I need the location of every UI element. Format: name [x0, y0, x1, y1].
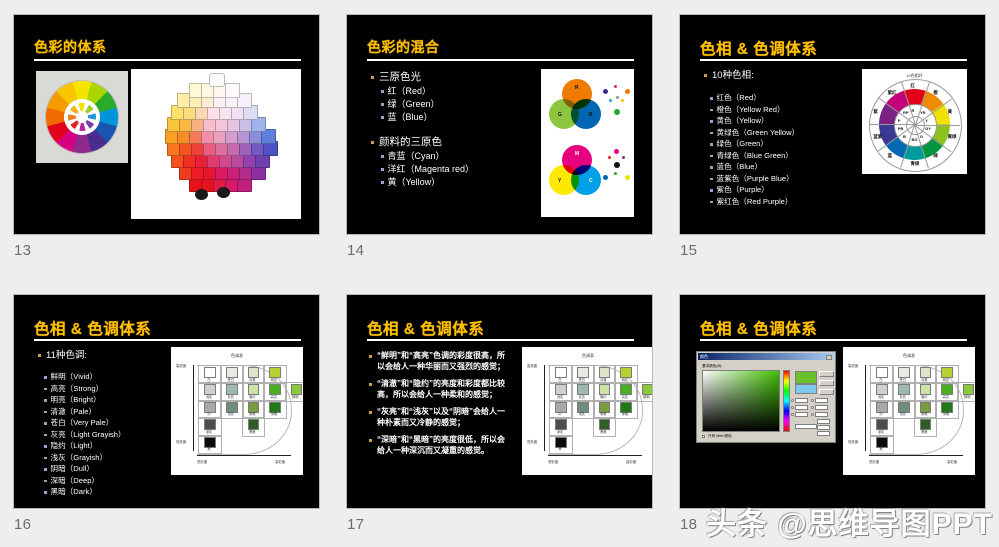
dialog-number-field[interactable]	[815, 398, 828, 403]
hue-wheel-outer-label: 绿	[933, 153, 937, 159]
bullet-text: 颜料的三原色	[379, 136, 442, 149]
bullet-square-icon	[710, 143, 713, 146]
tone-chart-cell-label: 明亮	[614, 377, 636, 382]
slide-17-title: 色相 & 色调体系	[367, 317, 484, 339]
color-solid-cubes	[131, 69, 301, 219]
slide-14-title: 色彩的混合	[367, 37, 440, 57]
tone-chart-x-axis	[197, 455, 291, 456]
dot	[614, 162, 620, 168]
list-item: 阴暗（Dull）	[44, 463, 178, 475]
tone-chart-x-right-label: 高彩度	[626, 459, 636, 464]
list-item: 红（Red）	[381, 85, 551, 98]
bullet-square-icon	[710, 155, 713, 158]
dialog-number-field[interactable]	[817, 431, 830, 436]
paragraph-text: “深暗”和“黑暗”的亮度很低，所以会给人一种深沉而又凝重的感觉。	[377, 435, 510, 456]
venn-label-c: C	[589, 178, 593, 184]
list-item-label: 清澈（Pale）	[51, 406, 97, 418]
bullet-square-icon	[44, 399, 47, 402]
bullet-square-icon	[369, 383, 372, 386]
tone-chart-cell-label: 高亮	[614, 394, 636, 399]
title-rule	[34, 339, 301, 341]
list-item: 绿（Green）	[381, 98, 551, 111]
bullet-square-icon	[710, 201, 713, 204]
hue-wheel: 10色相环 红橙黄黄绿绿青绿蓝蓝紫紫紫红RYRYGYGBGBPBPRP	[862, 69, 967, 174]
list-item-label: 红（Red）	[388, 85, 432, 98]
tone-chart-y-axis	[865, 365, 866, 451]
title-rule	[700, 59, 967, 61]
tone-chart-cell-label: 隐约	[914, 394, 936, 399]
bullet-square-icon	[369, 355, 372, 358]
dot	[608, 156, 611, 159]
venn-label-m: M	[575, 151, 579, 157]
title-rule	[367, 339, 634, 341]
hue-wheel-outer-label: 蓝	[888, 153, 892, 159]
web-colors-checkbox[interactable]	[702, 435, 705, 438]
bullet-square-icon	[38, 354, 41, 357]
slide-cell-13: 色彩的体系 13	[0, 0, 333, 280]
tone-chart-cell-label: 深暗	[263, 411, 285, 416]
tone-chart-cell-label: 鲜明	[636, 394, 654, 399]
list-item: 明亮（Bright）	[44, 394, 178, 406]
tone-chart-cell-label: 黑暗	[914, 429, 936, 434]
tone-chart-cell-label: 高亮	[935, 394, 957, 399]
rgb-dot-map	[603, 83, 631, 123]
hue-wheel-code-label: BG	[912, 137, 918, 142]
add-button[interactable]	[819, 389, 834, 395]
list-spacer	[704, 83, 864, 92]
tone-chart-caption: 色调表	[171, 353, 303, 359]
bullet-square-icon	[44, 491, 47, 494]
venn-label-y: Y	[558, 178, 561, 184]
list-item-label: 隐约（Light）	[51, 440, 98, 452]
slide-15-title: 色相 & 色调体系	[700, 37, 817, 59]
bullet-group-heading: 10种色相:	[704, 69, 864, 82]
slide-cell-15: 色相 & 色调体系 10种色相: 红色（Red）橙色（Yellow Red）黄色…	[666, 0, 999, 280]
list-item: 黄绿色（Green Yellow）	[710, 127, 864, 139]
dot	[625, 89, 630, 94]
slide-18[interactable]: 色相 & 色调体系 颜色 基本颜色(B):	[679, 294, 986, 509]
dialog-number-field[interactable]	[817, 425, 830, 430]
title-rule	[34, 59, 301, 61]
tone-chart-cell-label: 隐约	[242, 394, 264, 399]
list-item: 苍白（Very Pale）	[44, 417, 178, 429]
hue-wheel-outer-label: 红	[911, 83, 915, 89]
tone-chart-cell-label: 高亮	[263, 394, 285, 399]
list-item: 鲜明（Vivid）	[44, 371, 178, 383]
list-item: 黑暗（Dark）	[44, 486, 178, 498]
title-rule	[367, 59, 634, 61]
bullet-square-icon	[381, 168, 384, 171]
hue-wheel-code-label: Y	[925, 118, 928, 123]
tone-chart-cell-label: 清澈	[914, 377, 936, 382]
list-item-label: 阴暗（Dull）	[51, 463, 94, 475]
tone-chart-cell-label: 苍白	[220, 377, 242, 382]
tone-list: 鲜明（Vivid）高亮（Strong）明亮（Bright）清澈（Pale）苍白（…	[38, 371, 178, 498]
dot	[625, 175, 630, 180]
tone-chart-gray-label: 中	[870, 411, 892, 416]
list-item: 绿色（Green）	[710, 138, 864, 150]
bullet-square-icon	[44, 468, 47, 471]
hue-wheel-spoke	[870, 124, 915, 125]
list-item: 浅灰（Grayish）	[44, 452, 178, 464]
bullet-square-icon	[44, 376, 47, 379]
list-item-label: 浅灰（Grayish）	[51, 452, 108, 464]
tone-chart-cell-label: 清澈	[242, 377, 264, 382]
close-icon[interactable]	[826, 355, 832, 360]
dot	[603, 89, 608, 94]
tone-chart-gray-label: 浅灰	[870, 394, 892, 399]
rgb-venn-diagram: R G B	[549, 79, 601, 131]
list-item: 紫色（Purple）	[710, 184, 864, 196]
dialog-titlebar: 颜色	[698, 353, 834, 360]
tone-chart-cell-label: 阴暗	[593, 411, 615, 416]
list-item-label: 灰亮（Light Grayish）	[51, 429, 126, 441]
paragraph-item: “深暗”和“黑暗”的亮度很低，所以会给人一种深沉而又凝重的感觉。	[369, 435, 519, 456]
tone-chart-caption: 色调表	[843, 353, 975, 359]
hue-wheel-spoke	[915, 125, 960, 126]
venn-circle-c	[571, 165, 601, 195]
bullet-square-icon	[44, 422, 47, 425]
slide-number-17: 17	[347, 516, 364, 533]
tone-chart-cell-label: 鲜明	[957, 394, 976, 399]
bullet-square-icon	[369, 439, 372, 442]
bullet-square-icon	[381, 90, 384, 93]
dialog-label: 基本颜色(B):	[702, 364, 722, 369]
dot	[603, 175, 608, 180]
hue-wheel-code-label: B	[903, 134, 906, 139]
list-item: 紫红色（Red Purple）	[710, 196, 864, 208]
tone-chart: 色调表高亮度低亮度低彩度高彩度白浅灰中深灰黑苍白清澈明亮灰亮隐约高亮鲜明浅灰阴暗…	[843, 347, 975, 475]
slide-13-title: 色彩的体系	[34, 37, 107, 57]
tone-chart-cell-label: 灰亮	[220, 394, 242, 399]
hue-wheel-image: 10色相环 红橙黄黄绿绿青绿蓝蓝紫紫紫红RYRYGYGBGBPBPRP	[862, 69, 967, 174]
list-item-label: 洋红（Magenta red）	[388, 163, 475, 176]
dialog-radio[interactable]	[791, 406, 794, 409]
color-preview-new	[795, 371, 817, 384]
color-mixing-image: R G B M	[541, 69, 634, 217]
bullet-square-icon	[381, 181, 384, 184]
tone-chart-x-axis	[869, 455, 963, 456]
ok-button[interactable]	[819, 371, 834, 377]
slide-number-13: 13	[14, 242, 31, 259]
tone-chart-gray-label: 黑	[198, 446, 220, 451]
hue-wheel-outer-label: 黄绿	[948, 134, 957, 140]
venn-label-b: B	[589, 112, 593, 118]
tone-chart-cell-label: 苍白	[892, 377, 914, 382]
bullet-square-icon	[44, 457, 47, 460]
tone-chart-y-top-label: 高亮度	[176, 363, 186, 368]
tone-chart-cell-label: 黑暗	[593, 429, 615, 434]
paragraph-text: “鲜明”和“高亮”色调的彩度很高，所以会给人一种华丽而又强烈的感觉；	[377, 351, 510, 372]
dot	[614, 109, 620, 115]
dialog-number-field[interactable]	[817, 419, 830, 424]
hue-wheel-outer-label: 黄	[948, 109, 952, 115]
tone-chart-x-axis	[548, 455, 642, 456]
color-dialog: 颜色 基本颜色(B): 只有 Web 颜色	[696, 351, 836, 443]
dot	[614, 149, 619, 154]
tone-chart-cell-label: 灰亮	[892, 394, 914, 399]
tone-chart-cell-label: 深暗	[935, 411, 957, 416]
dialog-radio[interactable]	[811, 413, 814, 416]
tone-chart-x-right-label: 高彩度	[275, 459, 285, 464]
list-item-label: 紫色（Purple）	[717, 184, 769, 196]
tone-chart-cell-label: 浅灰	[892, 411, 914, 416]
tone-chart-gray-label: 中	[198, 411, 220, 416]
tone-chart-gray-label: 白	[549, 377, 571, 382]
tone-chart-y-bottom-label: 低亮度	[527, 439, 537, 444]
bullet-square-icon	[710, 178, 713, 181]
color-solid-base-blob	[217, 187, 230, 198]
bullet-square-icon	[44, 480, 47, 483]
hue-wheel-code-label: R	[912, 108, 915, 113]
slide-17[interactable]: 色相 & 色调体系 “鲜明”和“高亮”色调的彩度很高，所以会给人一种华丽而又强烈…	[346, 294, 653, 509]
list-item-label: 黄色（Yellow）	[717, 115, 769, 127]
list-spacer	[38, 363, 178, 371]
dialog-radio[interactable]	[791, 399, 794, 402]
list-item: 青绿色（Blue Green）	[710, 150, 864, 162]
tone-chart-x-left-label: 低彩度	[548, 459, 558, 464]
paragraph-text: “清澈”和“隐约”的亮度和彩度都比较高，所以会给人一种柔和的感觉；	[377, 379, 510, 400]
hue-wheel-outer-label: 蓝紫	[873, 134, 882, 140]
dot	[621, 99, 624, 102]
tone-chart-gray-label: 深灰	[549, 429, 571, 434]
bullet-square-icon	[371, 141, 374, 144]
venn-label-g: G	[558, 112, 562, 118]
tone-chart-cell-label: 黑暗	[242, 429, 264, 434]
tone-chart-y-top-label: 高亮度	[848, 363, 858, 368]
tone-chart-cell-label: 深暗	[614, 411, 636, 416]
bullet-group-heading: 颜料的三原色	[371, 136, 551, 149]
dialog-number-field[interactable]	[815, 405, 828, 410]
tone-chart-y-bottom-label: 低亮度	[848, 439, 858, 444]
bullet-group-heading: 三原色光	[371, 71, 551, 84]
list-item: 红色（Red）	[710, 92, 864, 104]
hue-slider[interactable]	[783, 370, 790, 432]
tone-chart-x-right-label: 高彩度	[947, 459, 957, 464]
bullet-square-icon	[381, 103, 384, 106]
cmy-dot-map	[603, 149, 631, 189]
slide-grid: 色彩的体系 13 色彩的混合	[0, 0, 999, 547]
tone-chart-y-top-label: 高亮度	[527, 363, 537, 368]
list-item-label: 青蓝（Cyan）	[388, 150, 445, 163]
slide-15-bullets: 10种色相: 红色（Red）橙色（Yellow Red）黄色（Yellow）黄绿…	[704, 69, 864, 207]
bullet-square-icon	[381, 116, 384, 119]
slide-cell-18: 色相 & 色调体系 颜色 基本颜色(B):	[666, 280, 999, 547]
tone-chart-gray-label: 黑	[870, 446, 892, 451]
slide-cell-16: 色相 & 色调体系 11种色调: 鲜明（Vivid）高亮（Strong）明亮（B…	[0, 280, 333, 547]
cmy-venn-diagram: M Y C	[549, 145, 601, 197]
color-wheel-image	[36, 71, 128, 163]
list-item: 洋红（Magenta red）	[381, 163, 551, 176]
color-solid-top-cylinder	[209, 73, 225, 87]
list-item-label: 黄（Yellow）	[388, 176, 441, 189]
list-spacer	[371, 124, 551, 136]
tone-chart-y-axis	[193, 365, 194, 451]
cancel-button[interactable]	[819, 380, 834, 386]
list-item-label: 黑暗（Dark）	[51, 486, 97, 498]
venn-circle-b	[571, 99, 601, 129]
list-item: 灰亮（Light Grayish）	[44, 429, 178, 441]
tone-chart-x-left-label: 低彩度	[869, 459, 879, 464]
bullet-square-icon	[44, 411, 47, 414]
bullet-square-icon	[369, 411, 372, 414]
slide-16-bullets: 11种色调: 鲜明（Vivid）高亮（Strong）明亮（Bright）清澈（P…	[38, 349, 178, 498]
bullet-square-icon	[710, 132, 713, 135]
tone-chart-cell-label: 鲜明	[285, 394, 304, 399]
list-item-label: 深暗（Deep）	[51, 475, 100, 487]
list-item: 蓝（Blue）	[381, 111, 551, 124]
tone-chart: 色调表高亮度低亮度低彩度高彩度白浅灰中深灰黑苍白清澈明亮灰亮隐约高亮鲜明浅灰阴暗…	[171, 347, 303, 475]
slide-17-paragraphs: “鲜明”和“高亮”色调的彩度很高，所以会给人一种华丽而又强烈的感觉； “清澈”和…	[369, 351, 519, 463]
list-item-label: 蓝紫色（Purple Blue）	[717, 173, 794, 185]
slide-15[interactable]: 色相 & 色调体系 10种色相: 红色（Red）橙色（Yellow Red）黄色…	[679, 14, 986, 235]
tone-chart-cell-label: 阴暗	[242, 411, 264, 416]
bullet-square-icon	[381, 155, 384, 158]
paragraph-text: “灰亮”和“浅灰”以及“阴暗”会给人一种朴素而又冷静的感觉；	[377, 407, 510, 428]
list-item-label: 苍白（Very Pale）	[51, 417, 114, 429]
tone-chart-cell-label: 浅灰	[220, 411, 242, 416]
hue-wheel-outer-label: 紫红	[888, 90, 897, 96]
paragraph-item: “鲜明”和“高亮”色调的彩度很高，所以会给人一种华丽而又强烈的感觉；	[369, 351, 519, 372]
list-item-label: 紫红色（Red Purple）	[717, 196, 793, 208]
bullet-text: 11种色调:	[46, 349, 87, 362]
hue-list: 红色（Red）橙色（Yellow Red）黄色（Yellow）黄绿色（Green…	[704, 92, 864, 207]
paragraph-item: “灰亮”和“浅灰”以及“阴暗”会给人一种朴素而又冷静的感觉；	[369, 407, 519, 428]
slide-13[interactable]: 色彩的体系	[13, 14, 320, 235]
dialog-number-field[interactable]	[795, 405, 808, 410]
tone-chart-gray-label: 白	[870, 377, 892, 382]
tone-chart-gray-label: 中	[549, 411, 571, 416]
color-solid-image	[131, 69, 301, 219]
color-solid-base-blob	[195, 189, 208, 200]
list-item-label: 红色（Red）	[717, 92, 761, 104]
bullet-text: 三原色光	[379, 71, 421, 84]
slide-cell-14: 色彩的混合 三原色光 红（Red） 绿（Green） 蓝（Blue） 颜料的三原…	[333, 0, 666, 280]
slide-16[interactable]: 色相 & 色调体系 11种色调: 鲜明（Vivid）高亮（Strong）明亮（B…	[13, 294, 320, 509]
bullet-square-icon	[44, 445, 47, 448]
tone-chart-gray-label: 深灰	[198, 429, 220, 434]
list-item: 蓝色（Blue）	[710, 161, 864, 173]
dialog-radio[interactable]	[811, 399, 814, 402]
tone-chart-cell-label: 明亮	[263, 377, 285, 382]
dot	[616, 96, 619, 99]
list-item: 隐约（Light）	[44, 440, 178, 452]
color-preview-current	[795, 384, 817, 394]
tone-chart-cell-label: 浅灰	[571, 411, 593, 416]
venn-label-r: R	[575, 85, 579, 91]
tone-chart-cell-label: 阴暗	[914, 411, 936, 416]
hue-wheel-outer-label: 青绿	[911, 161, 920, 167]
hue-wheel-code-label: P	[898, 118, 901, 123]
dot	[622, 156, 625, 159]
hue-wheel-outer-label: 紫	[873, 109, 877, 115]
list-item-label: 蓝（Blue）	[388, 111, 433, 124]
dialog-title: 颜色	[700, 354, 708, 359]
list-item-label: 蓝色（Blue）	[717, 161, 763, 173]
slide-18-title: 色相 & 色调体系	[700, 317, 817, 339]
bullet-square-icon	[710, 97, 713, 100]
dot	[609, 99, 612, 102]
list-item-label: 高亮（Strong）	[51, 383, 104, 395]
dialog-radio[interactable]	[791, 413, 794, 416]
title-rule	[700, 339, 967, 341]
tone-chart-cell-label: 清澈	[593, 377, 615, 382]
bullet-square-icon	[44, 434, 47, 437]
tone-chart-gray-label: 浅灰	[549, 394, 571, 399]
list-item-label: 橙色（Yellow Red）	[717, 104, 785, 116]
list-item-label: 鲜明（Vivid）	[51, 371, 98, 383]
tone-chart-x-left-label: 低彩度	[197, 459, 207, 464]
tone-chart-y-axis	[544, 365, 545, 451]
list-item-label: 绿（Green）	[388, 98, 440, 111]
list-item-label: 绿色（Green）	[717, 138, 768, 150]
paragraph-item: “清澈”和“隐约”的亮度和彩度都比较高，所以会给人一种柔和的感觉；	[369, 379, 519, 400]
slide-16-title: 色相 & 色调体系	[34, 317, 151, 339]
slide-cell-17: 色相 & 色调体系 “鲜明”和“高亮”色调的彩度很高，所以会给人一种华丽而又强烈…	[333, 280, 666, 547]
tone-chart-gray-label: 深灰	[870, 429, 892, 434]
dialog-number-field[interactable]	[795, 398, 808, 403]
list-item: 青蓝（Cyan）	[381, 150, 551, 163]
tone-chart-image-17: 色调表高亮度低亮度低彩度高彩度白浅灰中深灰黑苍白清澈明亮灰亮隐约高亮鲜明浅灰阴暗…	[522, 347, 653, 475]
tone-chart-image-16: 色调表高亮度低亮度低彩度高彩度白浅灰中深灰黑苍白清澈明亮灰亮隐约高亮鲜明浅灰阴暗…	[171, 347, 303, 475]
list-item-label: 青绿色（Blue Green）	[717, 150, 793, 162]
list-item-label: 明亮（Bright）	[51, 394, 101, 406]
tone-chart-y-bottom-label: 低亮度	[176, 439, 186, 444]
dot	[614, 172, 617, 175]
dialog-radio[interactable]	[811, 406, 814, 409]
dialog-number-field[interactable]	[815, 412, 828, 417]
slide-14[interactable]: 色彩的混合 三原色光 红（Red） 绿（Green） 蓝（Blue） 颜料的三原…	[346, 14, 653, 235]
bullet-group-heading: 11种色调:	[38, 349, 178, 362]
tone-chart-gray-label: 黑	[549, 446, 571, 451]
slide-number-16: 16	[14, 516, 31, 533]
bullet-square-icon	[710, 120, 713, 123]
color-wheel-outer-ring	[37, 72, 128, 163]
hue-wheel-code-label: RP	[903, 110, 909, 115]
list-item: 高亮（Strong）	[44, 383, 178, 395]
slide-number-15: 15	[680, 242, 697, 259]
tone-chart-gray-label: 浅灰	[198, 394, 220, 399]
tone-chart-caption: 色调表	[522, 353, 653, 359]
hue-wheel-code-label: YR	[920, 110, 926, 115]
slide-14-bullets: 三原色光 红（Red） 绿（Green） 蓝（Blue） 颜料的三原色 青蓝（C…	[371, 71, 551, 189]
hue-wheel-code-label: GY	[925, 126, 931, 131]
dot	[614, 85, 617, 88]
dialog-hex-field[interactable]	[795, 424, 817, 429]
color-solid-cube	[225, 83, 240, 98]
dialog-number-field[interactable]	[795, 412, 808, 417]
tone-chart-cell-label: 隐约	[593, 394, 615, 399]
list-item: 黄（Yellow）	[381, 176, 551, 189]
list-item: 深暗（Deep）	[44, 475, 178, 487]
bullet-square-icon	[710, 109, 713, 112]
hue-wheel-outer-label: 橙	[933, 90, 937, 96]
list-item: 蓝紫色（Purple Blue）	[710, 173, 864, 185]
hue-wheel-code-label: G	[920, 134, 923, 139]
saturation-field[interactable]	[702, 370, 780, 432]
bullet-square-icon	[371, 76, 374, 79]
bullet-square-icon	[710, 189, 713, 192]
list-item: 橙色（Yellow Red）	[710, 104, 864, 116]
bullet-square-icon	[710, 166, 713, 169]
list-item-label: 黄绿色（Green Yellow）	[717, 127, 800, 139]
bullet-square-icon	[44, 388, 47, 391]
slide-number-18: 18	[680, 516, 697, 533]
list-item: 黄色（Yellow）	[710, 115, 864, 127]
tone-chart-cell-label: 苍白	[571, 377, 593, 382]
tone-chart-gray-label: 白	[198, 377, 220, 382]
list-item: 清澈（Pale）	[44, 406, 178, 418]
